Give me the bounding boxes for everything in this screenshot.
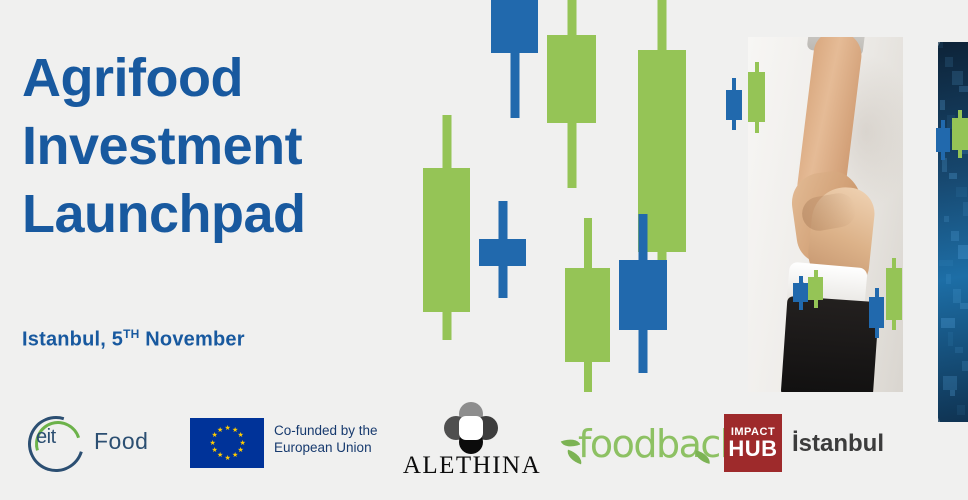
candle-13 [886,258,902,330]
glass-pane-12 [963,202,968,216]
impact-hub-logo: IMPACT HUB İstanbul [724,414,924,480]
eu-star-3: ★ [237,433,242,438]
glass-pane-16 [939,260,953,266]
event-location-date: Istanbul, 5TH November [22,327,245,352]
eu-star-2: ★ [232,428,237,433]
candle-1 [423,115,470,340]
glass-pane-18 [953,289,961,303]
skyscraper-facade [938,42,968,422]
glass-pane-5 [940,100,945,110]
handshake-suit-jacket [781,296,880,392]
candle-10 [793,276,808,310]
subtitle-prefix: Istanbul, 5 [22,329,123,351]
impact-hub-line-2: HUB [728,438,777,460]
eu-funding-line-2: European Union [274,439,378,456]
eu-star-11: ★ [212,433,217,438]
eu-star-6: ★ [232,453,237,458]
candle-3 [547,0,596,188]
glass-pane-11 [956,187,967,197]
impact-hub-mark: IMPACT HUB [724,414,782,472]
candle-4-body [479,239,526,266]
glass-pane-22 [955,347,963,353]
skyscraper-photo [938,42,968,422]
eu-star-4: ★ [240,441,245,446]
sponsor-logo-row: eit Food ★★★★★★★★★★★★ Co-funded by the E… [0,396,968,500]
alethina-logo: ALETHINA [392,400,552,492]
candle-6-body [565,268,610,362]
candle-12 [869,288,884,338]
eu-star-9: ★ [212,448,217,453]
glass-pane-24 [943,376,957,390]
alethina-clover-icon [444,402,498,454]
candle-11 [808,270,823,308]
glass-pane-9 [942,158,947,172]
eu-star-10: ★ [210,441,215,446]
candle-6 [565,218,610,392]
glass-pane-4 [959,86,968,92]
glass-pane-14 [951,231,959,241]
candle-9 [748,62,765,133]
candle-3-body [547,35,596,123]
title-line-1: Agrifood [22,44,422,112]
page-title: Agrifood Investment Launchpad [22,44,422,248]
candle-15 [952,110,968,158]
candle-9-body [748,72,765,122]
glass-pane-2 [945,57,953,67]
glass-pane-17 [946,274,951,284]
glass-pane-13 [944,216,949,222]
impact-hub-city: İstanbul [792,430,884,458]
candle-8-body [726,90,742,120]
glass-pane-20 [941,318,955,328]
event-banner: Agrifood Investment Launchpad Istanbul, … [0,0,968,500]
candle-12-body [869,297,884,328]
glass-pane-3 [952,71,963,85]
subtitle-ordinal: TH [123,327,139,341]
eu-star-5: ★ [237,448,242,453]
eu-star-12: ★ [217,428,222,433]
eu-star-8: ★ [217,453,222,458]
glass-pane-15 [958,245,968,259]
candle-7-body [619,260,667,330]
glass-pane-21 [948,332,953,346]
title-line-2: Investment [22,112,422,180]
candle-14 [936,120,950,160]
clover-core [459,416,483,440]
eu-star-7: ★ [225,456,230,461]
foodback-wordmark: foodback [578,422,740,466]
subtitle-suffix: November [140,329,245,351]
eit-food-logo: eit Food [18,406,168,482]
eu-funding-line-1: Co-funded by the [274,422,378,439]
candle-11-body [808,277,823,300]
candle-4 [479,201,526,298]
candle-7 [619,214,667,373]
glass-pane-19 [960,303,968,309]
candle-10-body [793,283,808,302]
eu-flag-icon: ★★★★★★★★★★★★ [190,418,264,468]
eit-food-word: Food [94,428,148,455]
glass-pane-23 [962,361,968,371]
candle-15-body [952,118,968,150]
candle-2-body [491,0,538,53]
handshake-photo [748,37,903,392]
candle-14-body [936,128,950,152]
glass-pane-10 [949,173,957,179]
eu-cofunded-logo: ★★★★★★★★★★★★ Co-funded by the European U… [190,416,380,474]
candle-2 [491,0,538,118]
candle-1-body [423,168,470,312]
alethina-wordmark: ALETHINA [392,452,552,480]
eu-star-1: ★ [225,426,230,431]
foodback-logo: foodback [562,422,712,474]
eit-mark-text: eit [36,426,56,449]
eu-funding-text: Co-funded by the European Union [274,422,378,456]
candle-8 [726,78,742,130]
glass-pane-1 [938,42,943,48]
candle-13-body [886,268,902,320]
title-line-3: Launchpad [22,180,422,248]
